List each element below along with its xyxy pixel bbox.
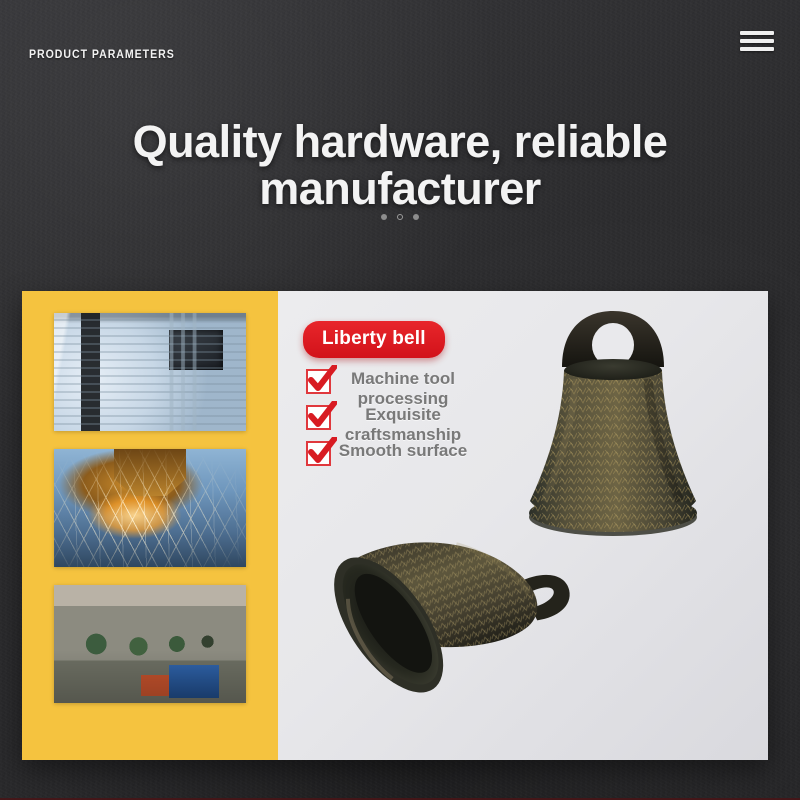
carousel-dot-2[interactable] bbox=[397, 214, 403, 220]
menu-bar-2 bbox=[740, 39, 774, 43]
product-name-badge: Liberty bell bbox=[303, 321, 445, 358]
menu-bar-1 bbox=[740, 31, 774, 35]
product-showcase-panel: Liberty bell Machine tool processing bbox=[278, 291, 768, 760]
hero-heading-line-1: Quality hardware, reliable bbox=[133, 116, 668, 167]
hero-heading-line-2: manufacturer bbox=[259, 163, 541, 214]
carousel-dots[interactable] bbox=[0, 214, 800, 220]
menu-bar-3 bbox=[740, 47, 774, 51]
feature-list: Machine tool processing Exquisite crafts… bbox=[303, 369, 478, 461]
feature-label-1: Machine tool processing bbox=[323, 369, 483, 409]
page-title: Quality hardware, reliable manufacturer bbox=[0, 118, 800, 213]
carousel-dot-1[interactable] bbox=[381, 214, 387, 220]
feature-label-3: Smooth surface bbox=[323, 441, 483, 461]
press-line-photo[interactable] bbox=[54, 585, 246, 703]
feature-label-2: Exquisite craftsmanship bbox=[323, 405, 483, 445]
laser-cutting-image bbox=[54, 449, 246, 567]
laser-cutting-photo[interactable] bbox=[54, 449, 246, 567]
page-root: PRODUCT PARAMETERS Quality hardware, rel… bbox=[0, 0, 800, 800]
press-line-image bbox=[54, 585, 246, 703]
product-card: Liberty bell Machine tool processing bbox=[22, 291, 768, 760]
cnc-machine-photo[interactable] bbox=[54, 313, 246, 431]
hamburger-menu-icon[interactable] bbox=[740, 28, 774, 54]
hero-section: Quality hardware, reliable manufacturer bbox=[0, 118, 800, 213]
carousel-dot-3[interactable] bbox=[413, 214, 419, 220]
feature-item-3: Smooth surface bbox=[303, 441, 478, 461]
cnc-machine-image bbox=[54, 313, 246, 431]
brand-label: PRODUCT PARAMETERS bbox=[29, 47, 175, 61]
factory-gallery-panel bbox=[22, 291, 278, 760]
